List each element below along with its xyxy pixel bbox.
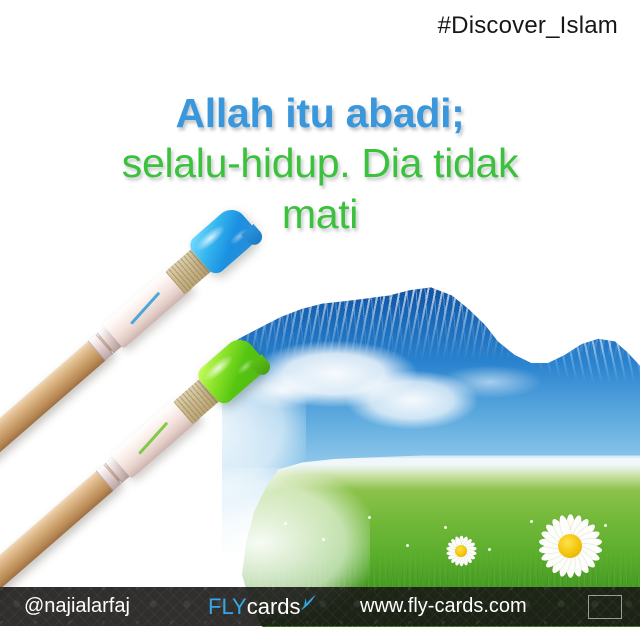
- field-flower-speck: [406, 544, 409, 547]
- sky-drybrush-texture-right: [410, 290, 640, 410]
- quote-line-2: selalu-hidup. Dia tidak: [28, 138, 612, 188]
- daisy-large: [536, 512, 604, 580]
- field-flower-speck: [488, 548, 491, 551]
- footer-bar: @najialarfaj FLY cards www.fly-cards.com: [0, 587, 640, 626]
- flycards-logo[interactable]: FLY cards: [208, 594, 321, 620]
- ferrule-color-mark: [130, 292, 160, 325]
- quote-line-1: Allah itu abadi;: [28, 88, 612, 138]
- daisy-center: [455, 545, 467, 557]
- quote-text: Allah itu abadi; selalu-hidup. Dia tidak…: [28, 88, 612, 239]
- brand-fly-text: FLY: [208, 594, 247, 620]
- website-url[interactable]: www.fly-cards.com: [360, 595, 527, 618]
- quote-line-3: mati: [28, 189, 612, 239]
- brand-cards-text: cards: [247, 594, 301, 620]
- daisy-small: [444, 534, 478, 568]
- hashtag-label: #Discover_Islam: [438, 12, 618, 40]
- field-flower-speck: [604, 524, 607, 527]
- field-flower-speck: [530, 520, 533, 523]
- ferrule-color-mark: [138, 422, 168, 455]
- discover-islam-card: #Discover_Islam Allah itu abadi; selalu-…: [0, 0, 640, 640]
- bird-icon: [297, 592, 321, 612]
- daisy-center: [558, 534, 582, 558]
- indonesia-flag-icon: [588, 595, 622, 619]
- field-flower-speck: [444, 526, 447, 529]
- author-handle[interactable]: @najialarfaj: [24, 595, 130, 618]
